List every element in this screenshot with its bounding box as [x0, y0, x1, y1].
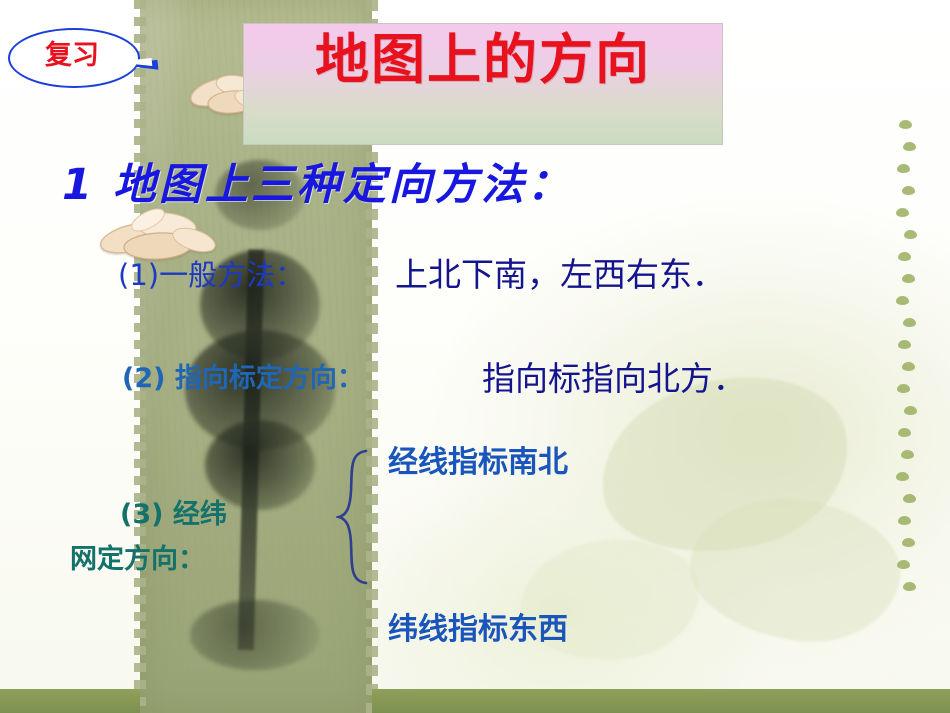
- ink-painting-icon: [190, 600, 320, 670]
- method-3-sub-value-1: 经线指标南北: [388, 437, 568, 481]
- dotted-vine-icon: [893, 120, 919, 600]
- bottom-strip: [372, 689, 950, 713]
- review-callout: 复习: [8, 28, 158, 90]
- method-2-label: (2) 指向标定方向：: [122, 356, 364, 395]
- method-3-sub-value-2: 纬线指标东西: [388, 604, 568, 648]
- curly-brace-icon: [336, 447, 370, 587]
- title-box: 地图上的方向: [243, 23, 723, 145]
- page-title: 地图上的方向: [244, 24, 722, 90]
- method-2-value: 指向标指向北方．: [482, 352, 746, 400]
- review-badge-label: 复习: [8, 28, 136, 84]
- method-1-label: (1)一般方法：: [118, 252, 304, 294]
- bottom-strip-left: [0, 689, 140, 713]
- slide-canvas: 地图上的方向 复习 1 地图上三种定向方法： (1)一般方法： 上北下南，左西右…: [0, 0, 950, 713]
- method-3-label-line1: (3) 经纬: [120, 492, 227, 531]
- method-1-value: 上北下南，左西右东．: [395, 248, 725, 296]
- method-3-label-line2: 网定方向：: [70, 537, 205, 576]
- section-heading: 1 地图上三种定向方法：: [62, 150, 573, 212]
